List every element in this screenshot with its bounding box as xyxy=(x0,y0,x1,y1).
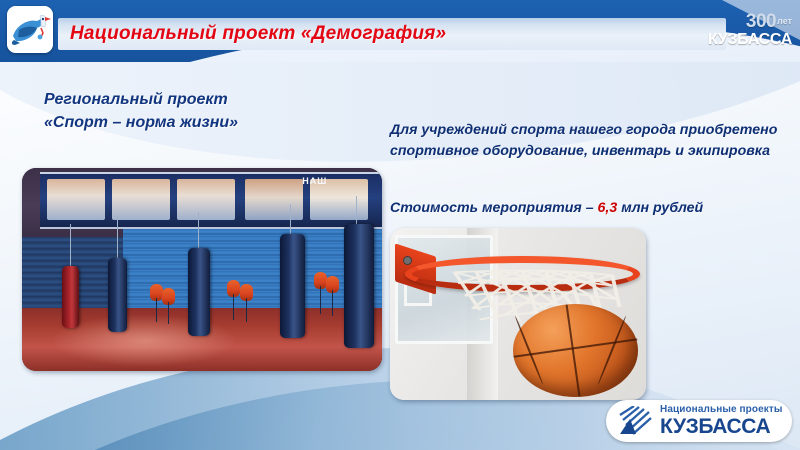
cost-prefix: Стоимость мероприятия – xyxy=(390,200,598,216)
body-paragraph: Для учреждений спорта нашего города прио… xyxy=(390,120,790,162)
cost-value: 6,3 xyxy=(598,200,618,216)
logo-line-2: КУЗБАССА xyxy=(660,416,782,437)
gym-banner: НАШ xyxy=(40,172,382,229)
boxing-gym-photo: НАШ xyxy=(22,168,382,371)
presentation-slide: Национальный проект «Демография» 300лет … xyxy=(0,0,800,450)
basketball xyxy=(513,304,638,397)
cost-line: Стоимость мероприятия – 6,3 млн рублей xyxy=(390,200,790,216)
national-projects-kuzbass-logo: Национальные проекты КУЗБАССА xyxy=(606,400,792,442)
punching-bag xyxy=(280,234,305,338)
stork-bird-icon xyxy=(7,6,53,53)
gym-banner-text: НАШ xyxy=(302,176,327,186)
punching-bag xyxy=(62,266,79,328)
anniversary-region: КУЗБАССА xyxy=(708,32,792,48)
rim-bolt xyxy=(403,256,412,265)
punching-bag xyxy=(344,224,374,348)
cost-suffix: млн рублей xyxy=(617,200,703,216)
striped-arrow-icon xyxy=(618,406,652,436)
punching-bag xyxy=(188,248,210,336)
regional-project-title: Региональный проект «Спорт – норма жизни… xyxy=(44,88,238,134)
anniversary-sup: лет xyxy=(777,16,792,26)
kuzbass-300-anniversary-logo: 300лет КУЗБАССА xyxy=(688,0,800,58)
punching-bag xyxy=(108,258,127,332)
basketball-hoop-photo xyxy=(390,228,646,400)
logo-line-1: Национальные проекты xyxy=(660,405,782,415)
anniversary-number: 300 xyxy=(746,11,776,32)
page-title: Национальный проект «Демография» xyxy=(70,23,446,45)
